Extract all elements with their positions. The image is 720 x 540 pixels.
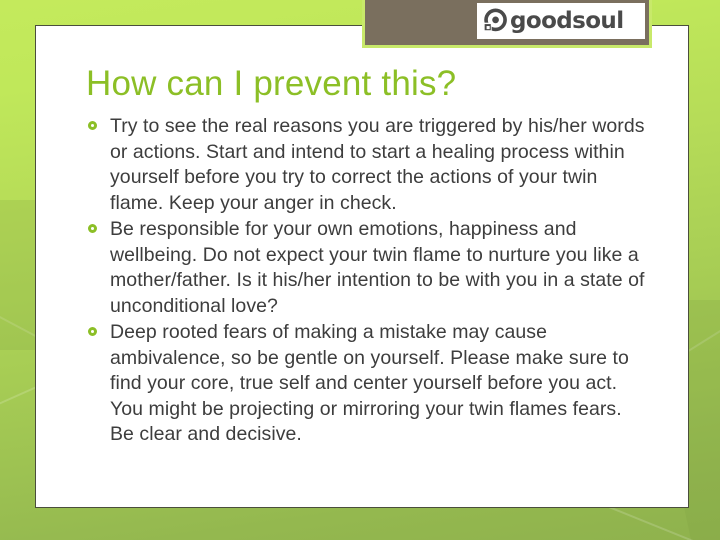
goodsoul-circle-mark-icon — [481, 7, 509, 35]
content-panel: How can I prevent this? Try to see the r… — [35, 25, 689, 508]
logo-plate: goodsoul — [477, 3, 645, 39]
ring-bullet-icon — [88, 217, 110, 233]
logo-header-block: goodsoul — [362, 0, 652, 48]
list-item: Be responsible for your own emotions, ha… — [88, 217, 648, 319]
bullet-list: Try to see the real reasons you are trig… — [88, 114, 648, 449]
list-item-text: Be responsible for your own emotions, ha… — [110, 217, 648, 319]
ring-bullet-icon — [88, 114, 110, 130]
list-item-text: Deep rooted fears of making a mistake ma… — [110, 320, 648, 448]
list-item-text: Try to see the real reasons you are trig… — [110, 114, 648, 216]
list-item: Deep rooted fears of making a mistake ma… — [88, 320, 648, 448]
presentation-slide: How can I prevent this? Try to see the r… — [0, 0, 720, 540]
page-title: How can I prevent this? — [86, 64, 456, 104]
ring-bullet-icon — [88, 320, 110, 336]
list-item: Try to see the real reasons you are trig… — [88, 114, 648, 216]
logo-wordmark: goodsoul — [510, 10, 623, 33]
